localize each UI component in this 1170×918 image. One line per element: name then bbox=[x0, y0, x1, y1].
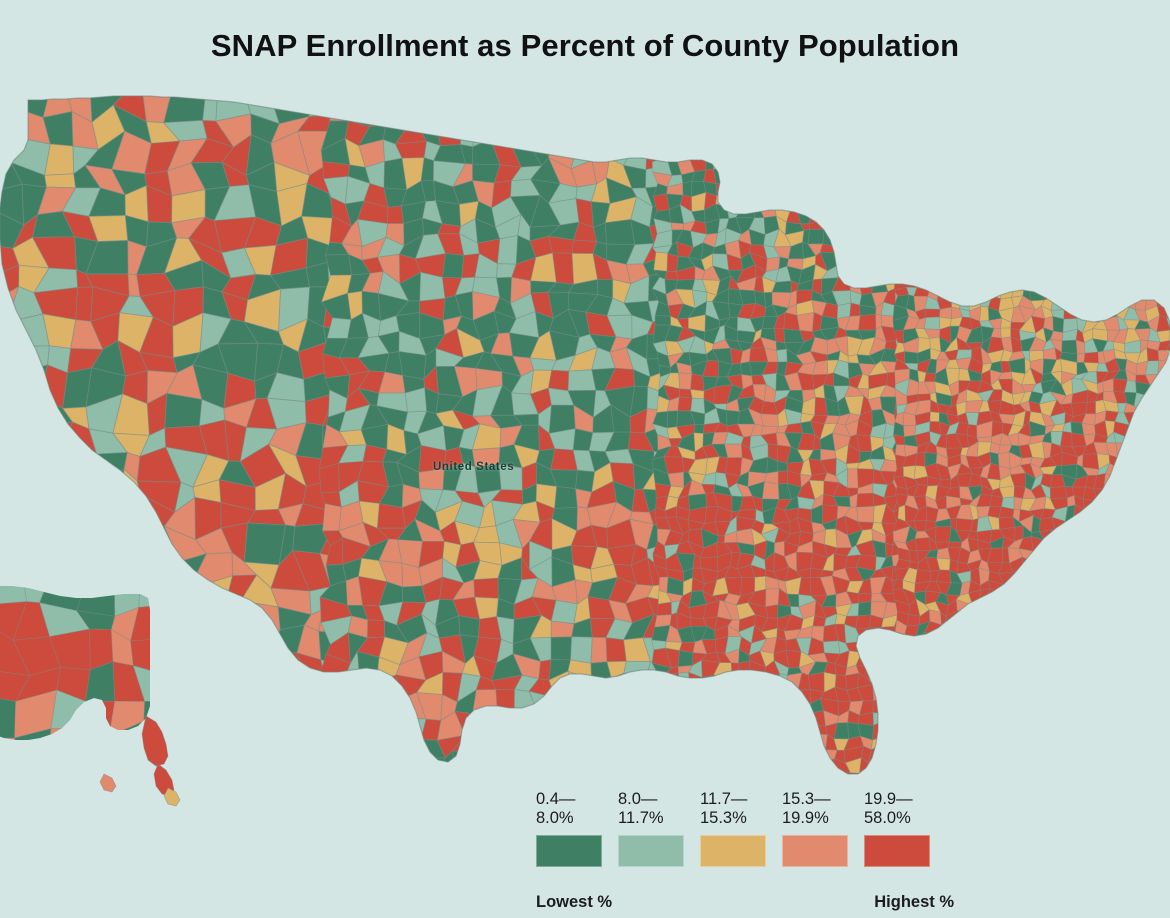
county-polygon bbox=[442, 254, 464, 279]
legend-bin-1: 8.0— 11.7% bbox=[618, 790, 700, 867]
county-polygon bbox=[472, 448, 500, 467]
county-polygon bbox=[555, 487, 578, 509]
county-polygon bbox=[915, 537, 930, 551]
county-polygon bbox=[915, 453, 925, 467]
county-polygon bbox=[553, 253, 574, 284]
county-polygon bbox=[388, 206, 404, 224]
county-polygon bbox=[948, 542, 962, 548]
county-polygon bbox=[657, 602, 672, 615]
legend-highest-label: Highest % bbox=[874, 893, 954, 912]
county-polygon bbox=[1083, 454, 1099, 470]
county-polygon bbox=[980, 306, 989, 321]
county-polygon bbox=[905, 351, 918, 363]
county-polygon bbox=[808, 229, 824, 244]
county-polygon bbox=[676, 279, 695, 290]
legend-swatch-1 bbox=[618, 835, 684, 867]
county-polygon bbox=[325, 255, 351, 276]
county-polygon bbox=[907, 614, 920, 626]
county-polygon bbox=[165, 393, 202, 428]
legend-bin-0: 0.4— 8.0% bbox=[536, 790, 618, 867]
legend-lowest-label: Lowest % bbox=[536, 893, 612, 912]
county-polygon bbox=[856, 615, 871, 628]
county-polygon bbox=[956, 518, 973, 531]
county-polygon bbox=[857, 506, 875, 522]
county-polygon bbox=[857, 493, 875, 507]
county-polygon bbox=[924, 317, 940, 329]
legend-bin-range-4: 19.9— 58.0% bbox=[864, 790, 913, 828]
county-polygon bbox=[885, 341, 897, 350]
county-polygon bbox=[762, 482, 779, 500]
county-polygon bbox=[808, 672, 824, 692]
choropleth-map[interactable]: United States bbox=[0, 88, 1170, 808]
county-polygon bbox=[847, 469, 858, 489]
legend-bin-range-2: 11.7— 15.3% bbox=[700, 790, 747, 828]
county-polygon bbox=[551, 637, 572, 660]
county-polygon bbox=[691, 390, 705, 399]
county-polygon bbox=[551, 600, 577, 623]
county-polygon bbox=[1053, 316, 1064, 332]
county-polygon bbox=[551, 621, 574, 637]
county-polygon bbox=[419, 469, 444, 490]
county-polygon bbox=[694, 424, 704, 433]
county-polygon bbox=[683, 181, 692, 196]
county-polygon bbox=[691, 374, 705, 391]
county-polygon bbox=[320, 463, 340, 493]
county-polygon bbox=[323, 162, 350, 179]
county-polygon bbox=[939, 307, 951, 319]
county-polygon bbox=[591, 637, 607, 663]
county-polygon bbox=[1050, 487, 1067, 499]
county-polygon bbox=[1084, 352, 1099, 363]
county-polygon bbox=[606, 638, 626, 662]
legend-swatch-4 bbox=[864, 835, 930, 867]
legend-bin-4: 19.9— 58.0% bbox=[864, 790, 946, 867]
county-polygon bbox=[1082, 423, 1096, 435]
county-polygon bbox=[925, 309, 940, 318]
county-polygon bbox=[499, 464, 522, 490]
legend-swatch-0 bbox=[536, 835, 602, 867]
county-polygon bbox=[572, 240, 597, 254]
county-polygon bbox=[850, 303, 860, 316]
page-title: SNAP Enrollment as Percent of County Pop… bbox=[0, 0, 1170, 92]
county-polygon bbox=[1062, 340, 1078, 354]
county-polygon bbox=[665, 271, 678, 280]
county-polygon bbox=[1060, 431, 1072, 447]
county-polygon bbox=[678, 651, 693, 667]
county-polygon bbox=[679, 373, 692, 390]
county-polygon bbox=[76, 287, 93, 322]
county-polygon bbox=[377, 504, 405, 529]
legend-endcaps: Lowest % Highest % bbox=[536, 893, 946, 912]
county-polygon bbox=[786, 651, 801, 669]
legend-swatch-3 bbox=[782, 835, 848, 867]
county-polygon bbox=[858, 602, 871, 617]
county-polygon bbox=[797, 313, 814, 332]
county-polygon bbox=[419, 446, 446, 473]
county-polygon bbox=[778, 471, 788, 484]
legend-bin-range-1: 8.0— 11.7% bbox=[618, 790, 664, 828]
county-polygon bbox=[654, 252, 668, 271]
county-polygon bbox=[667, 411, 678, 428]
county-polygon bbox=[244, 523, 285, 565]
county-polygon bbox=[1001, 328, 1011, 338]
map-page: SNAP Enrollment as Percent of County Pop… bbox=[0, 0, 1170, 918]
legend-bin-2: 11.7— 15.3% bbox=[700, 790, 782, 867]
legend-bin-3: 15.3— 19.9% bbox=[782, 790, 864, 867]
map-svg[interactable] bbox=[0, 88, 1170, 808]
county-polygon bbox=[678, 397, 692, 411]
county-polygon bbox=[1145, 361, 1158, 375]
county-polygon bbox=[725, 458, 742, 476]
county-polygon bbox=[930, 412, 939, 422]
county-polygon bbox=[725, 444, 743, 458]
county-polygon bbox=[777, 349, 788, 362]
legend-bin-range-3: 15.3— 19.9% bbox=[782, 790, 831, 828]
county-polygon bbox=[474, 578, 499, 598]
legend-bin-range-0: 0.4— 8.0% bbox=[536, 790, 575, 828]
map-legend: 0.4— 8.0%8.0— 11.7%11.7— 15.3%15.3— 19.9… bbox=[536, 790, 946, 910]
county-polygon bbox=[399, 352, 426, 380]
county-polygon bbox=[671, 223, 684, 230]
county-polygon bbox=[367, 620, 384, 638]
county-polygon bbox=[568, 370, 596, 391]
county-polygon bbox=[548, 370, 569, 390]
legend-swatch-2 bbox=[700, 835, 766, 867]
county-polygon bbox=[323, 504, 342, 531]
county-polygon bbox=[605, 220, 635, 245]
county-polygon bbox=[761, 414, 779, 427]
county-polygon bbox=[904, 425, 917, 436]
county-polygon bbox=[655, 316, 671, 326]
county-polygon bbox=[679, 389, 692, 398]
county-polygon bbox=[498, 236, 518, 265]
county-polygon bbox=[659, 577, 668, 593]
county-polygon bbox=[459, 616, 480, 637]
county-polygon bbox=[823, 641, 840, 654]
county-polygon bbox=[766, 589, 780, 607]
county-polygon bbox=[935, 527, 951, 543]
county-polygon bbox=[774, 328, 785, 343]
alaska-borough-polygon bbox=[0, 695, 16, 738]
county-polygon bbox=[45, 174, 76, 188]
county-polygon bbox=[766, 605, 778, 619]
county-polygon bbox=[924, 373, 935, 382]
county-polygon bbox=[1086, 401, 1096, 413]
county-polygon bbox=[475, 464, 501, 493]
county-polygon bbox=[1076, 340, 1085, 354]
county-polygon bbox=[858, 314, 876, 330]
county-polygon bbox=[571, 637, 593, 664]
